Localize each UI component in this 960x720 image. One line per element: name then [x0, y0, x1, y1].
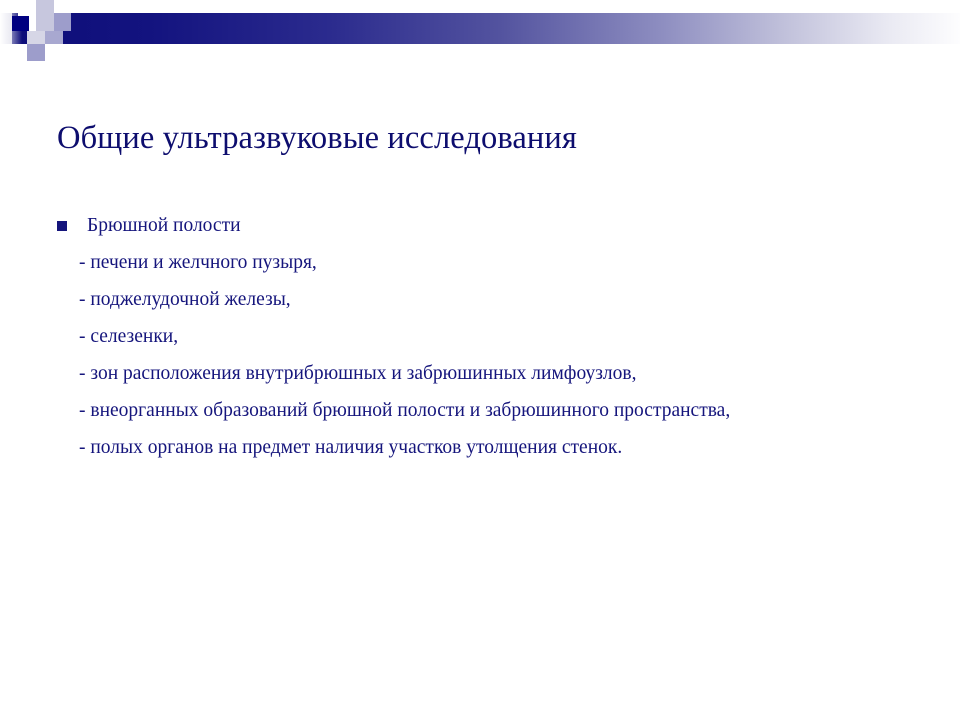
mosaic-square-light-3	[36, 13, 54, 31]
sub-list-item: - зон расположения внутрибрюшных и забрю…	[79, 360, 879, 387]
mosaic-square-white-gap	[0, 13, 12, 44]
sub-list-item: - полых органов на предмет наличия участ…	[79, 434, 879, 461]
sub-list-item: - поджелудочной железы,	[79, 286, 879, 313]
mosaic-squares-decoration	[0, 0, 130, 70]
mosaic-square-mid-2	[45, 31, 63, 44]
slide-header	[0, 0, 960, 70]
page-title: Общие ультразвуковые исследования	[57, 118, 897, 158]
slide-content-list: Брюшной полости - печени и желчного пузы…	[57, 212, 907, 461]
mosaic-square-light-4	[27, 31, 45, 44]
mosaic-square-mid-3	[27, 44, 45, 61]
square-bullet-icon	[57, 221, 67, 231]
mosaic-square-dark-1	[12, 16, 29, 31]
mosaic-square-light-1	[36, 0, 54, 14]
sub-list-item: - печени и желчного пузыря,	[79, 249, 879, 276]
bullet-label: Брюшной полости	[87, 212, 241, 239]
gradient-title-bar	[0, 13, 960, 44]
sub-list-item: - внеорганных образований брюшной полост…	[79, 397, 891, 424]
mosaic-square-mid-1	[54, 13, 71, 31]
sub-list-item: - селезенки,	[79, 323, 879, 350]
list-item: Брюшной полости	[57, 212, 907, 239]
